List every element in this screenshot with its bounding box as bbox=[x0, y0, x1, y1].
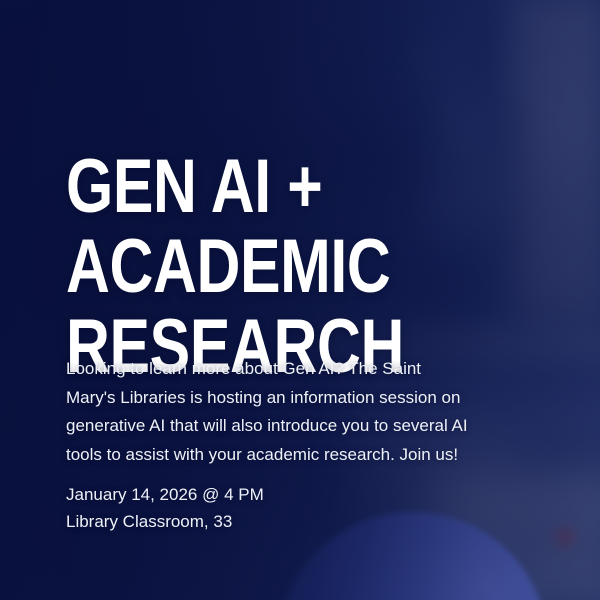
description-line-3: generative AI that will also introduce y… bbox=[66, 412, 496, 441]
description-line-1: Looking to learn more about Gen AI? The … bbox=[66, 355, 496, 384]
headline-line-1: GEN AI + bbox=[66, 147, 442, 227]
poster-headline: GEN AI + ACADEMIC RESEARCH bbox=[66, 147, 442, 387]
poster-content: GEN AI + ACADEMIC RESEARCH Looking to le… bbox=[0, 0, 600, 600]
event-details: January 14, 2026 @ 4 PM Library Classroo… bbox=[66, 481, 264, 535]
poster-description: Looking to learn more about Gen AI? The … bbox=[66, 355, 496, 469]
event-datetime: January 14, 2026 @ 4 PM bbox=[66, 481, 264, 508]
event-location: Library Classroom, 33 bbox=[66, 508, 264, 535]
description-line-2: Mary's Libraries is hosting an informati… bbox=[66, 384, 496, 413]
event-poster: GEN AI + ACADEMIC RESEARCH Looking to le… bbox=[0, 0, 600, 600]
headline-line-2: ACADEMIC bbox=[66, 227, 442, 307]
description-line-4: tools to assist with your academic resea… bbox=[66, 441, 496, 470]
